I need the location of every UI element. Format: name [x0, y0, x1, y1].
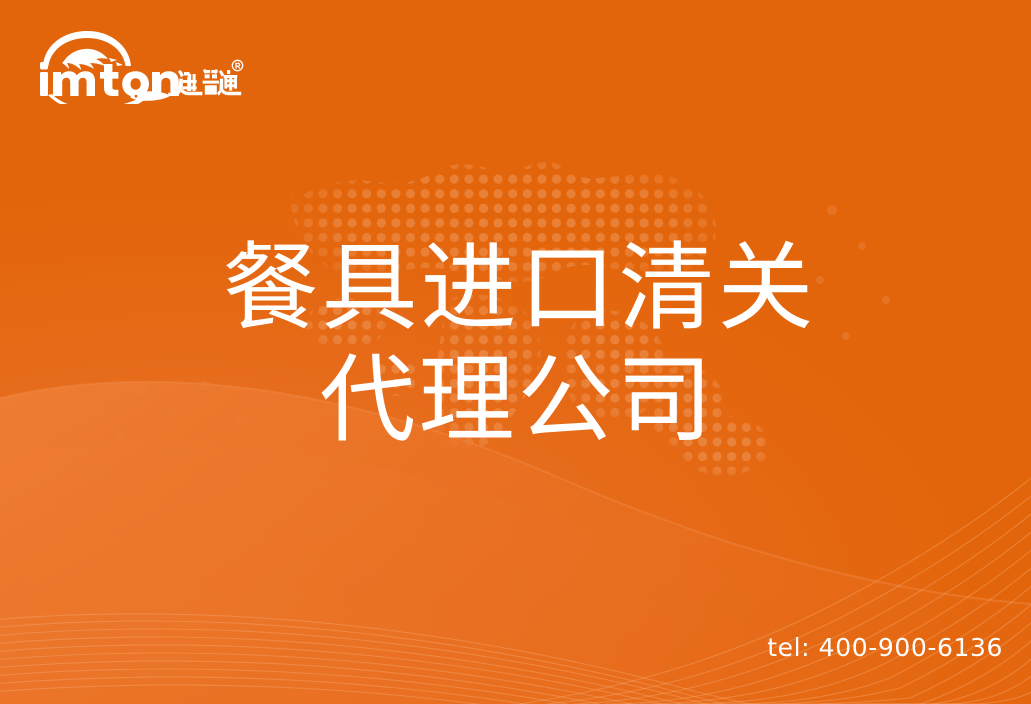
headline-line-2: 代理公司: [0, 344, 1031, 456]
bird-icon: [62, 49, 108, 70]
trademark-symbol: [232, 60, 242, 70]
promo-banner: 餐具进口清关 代理公司 tel: 400-900-6136: [0, 0, 1031, 704]
company-logo[interactable]: [34, 28, 246, 104]
logo-chinese-name: [176, 69, 241, 96]
logo-artwork: [34, 28, 246, 104]
contact-phone[interactable]: tel: 400-900-6136: [767, 633, 1003, 662]
logo-wordmark: [40, 62, 179, 97]
headline-line-1: 餐具进口清关: [0, 232, 1031, 344]
page-title: 餐具进口清关 代理公司: [0, 232, 1031, 456]
